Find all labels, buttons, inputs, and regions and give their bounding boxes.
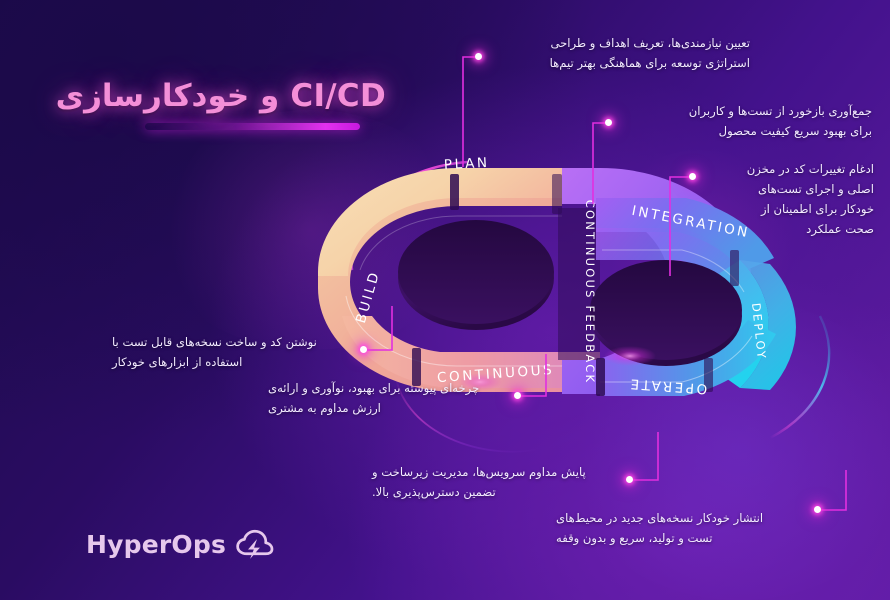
callout-operate: پایش مداوم سرویس‌ها، مدیریت زیرساخت و تض… bbox=[372, 463, 624, 503]
connector-dot-integration bbox=[689, 173, 696, 180]
callout-deploy: انتشار خودکار نسخه‌های جدید در محیط‌های … bbox=[556, 509, 814, 549]
callout-build: نوشتن کد و ساخت نسخه‌های قابل تست با است… bbox=[112, 333, 360, 373]
brand-logo: HyperOps bbox=[86, 527, 276, 561]
connector-dot-deploy bbox=[814, 506, 821, 513]
callout-continuous: چرخه‌ای پیوسته برای بهبود، نوآوری و ارائ… bbox=[268, 379, 514, 419]
ring-label-build: BUILD bbox=[353, 269, 383, 325]
left-ring bbox=[318, 168, 600, 392]
page-title: CI/CD و خودکارسازی bbox=[86, 78, 386, 114]
ring-label-plan: PLAN bbox=[444, 155, 490, 173]
connector-dot-continuous bbox=[514, 392, 521, 399]
callout-integration: ادغام تغییرات کد در مخزن اصلی و اجرای تس… bbox=[702, 160, 874, 240]
connector-dot-build bbox=[360, 346, 367, 353]
connector-dot-operate bbox=[626, 476, 633, 483]
connector-dot-plan bbox=[475, 53, 482, 60]
connector-dot-continuous-feedback bbox=[605, 119, 612, 126]
ring-label-continuous-feedback: CONTINUOUS FEEDBACK bbox=[583, 200, 597, 384]
cloud-lightning-icon bbox=[235, 527, 276, 561]
brand-name: HyperOps bbox=[86, 530, 226, 559]
infographic-canvas: CI/CD و خودکارسازی bbox=[0, 0, 890, 600]
callout-plan: تعیین نیازمندی‌ها، تعریف اهداف و طراحی ا… bbox=[486, 34, 750, 74]
callout-continuous-feedback: جمع‌آوری بازخورد از تست‌ها و کاربران برا… bbox=[616, 102, 872, 142]
